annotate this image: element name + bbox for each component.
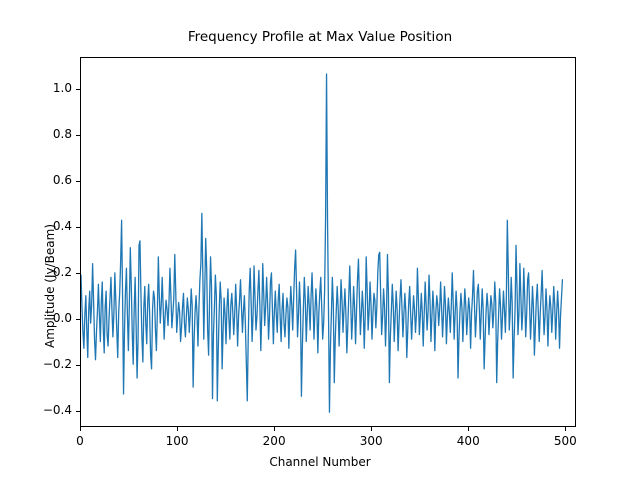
- matplotlib-figure: Frequency Profile at Max Value Position …: [0, 0, 640, 480]
- x-tick-mark: [371, 427, 372, 431]
- chart-title: Frequency Profile at Max Value Position: [0, 29, 640, 45]
- x-tick-label: 0: [50, 434, 110, 448]
- y-tick-label: 0.4: [53, 219, 72, 233]
- x-tick-label: 400: [438, 434, 498, 448]
- x-tick-mark: [274, 427, 275, 431]
- x-axis-label: Channel Number: [0, 455, 640, 469]
- y-tick-label: 1.0: [53, 81, 72, 95]
- x-tick-mark: [177, 427, 178, 431]
- x-tick-mark: [565, 427, 566, 431]
- x-tick-mark: [468, 427, 469, 431]
- data-line-svg: [81, 58, 575, 426]
- y-tick-label: 0.6: [53, 173, 72, 187]
- amplitude-series-line: [81, 74, 562, 412]
- plot-area: [80, 57, 576, 427]
- y-axis-tick-labels: −0.4−0.20.00.20.40.60.81.0: [0, 0, 72, 480]
- x-tick-mark: [80, 427, 81, 431]
- x-tick-label: 200: [244, 434, 304, 448]
- x-tick-label: 300: [341, 434, 401, 448]
- y-tick-label: 0.8: [53, 127, 72, 141]
- x-tick-label: 500: [535, 434, 595, 448]
- y-tick-label: 0.0: [53, 311, 72, 325]
- y-tick-label: −0.2: [43, 357, 72, 371]
- x-tick-label: 100: [147, 434, 207, 448]
- y-tick-label: −0.4: [43, 403, 72, 417]
- y-tick-label: 0.2: [53, 265, 72, 279]
